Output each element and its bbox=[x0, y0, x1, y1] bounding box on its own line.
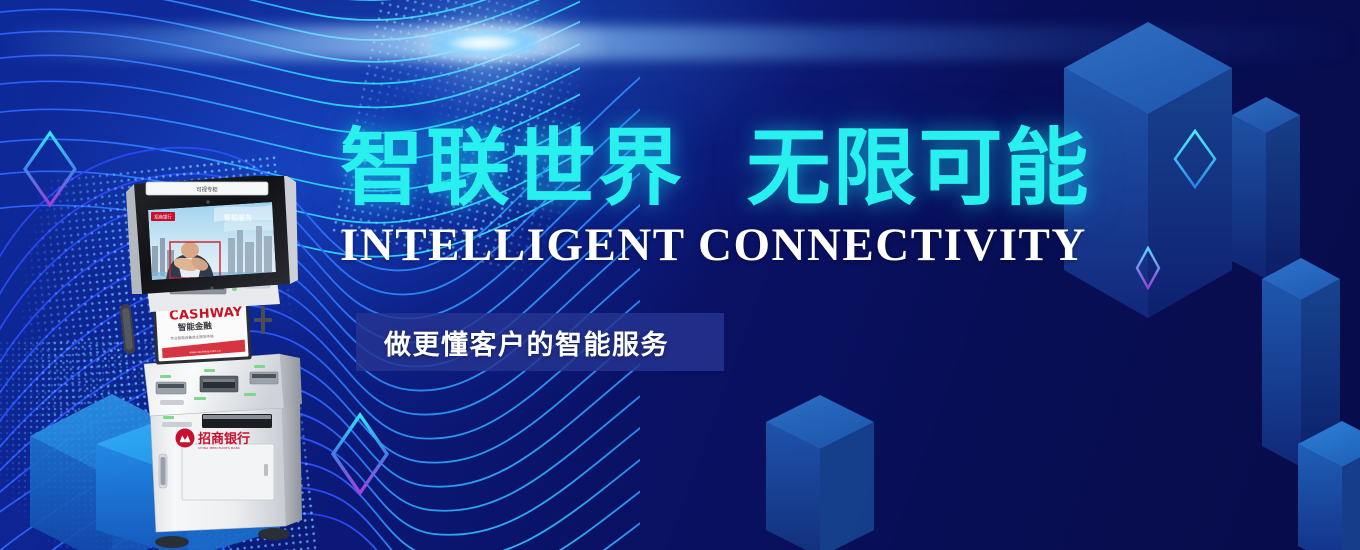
kiosk-top-label-text: 可视专柜 bbox=[196, 186, 218, 194]
kiosk-indicator-green-e bbox=[254, 365, 265, 368]
headline-text-block: 智联世界 无限可能 INTELLIGENT CONNECTIVITY 做更懂客户… bbox=[340, 126, 1220, 272]
kiosk-bank-name-cn: 招商银行 bbox=[198, 431, 250, 447]
lens-flare-glow bbox=[372, 0, 602, 132]
kiosk-card-slot bbox=[160, 400, 184, 405]
kiosk-bank-name-en: CHINA MERCHANTS BANK bbox=[198, 446, 240, 450]
lens-flare-core bbox=[430, 29, 538, 57]
kiosk-bank-logo: 招商银行 CHINA MERCHANTS BANK bbox=[176, 429, 251, 451]
kiosk-machine: 招商银行 CHINA MERCHANTS BANK CASHWAY 智能金融 专… bbox=[104, 176, 320, 550]
kiosk-indicator-green-b bbox=[163, 416, 174, 419]
kiosk-indicator-green-d bbox=[204, 369, 215, 372]
kiosk-indicator-green-c bbox=[160, 375, 171, 378]
kiosk-indicator-green-g bbox=[244, 393, 256, 396]
iso-block-far-right bbox=[1296, 418, 1360, 550]
kiosk-small-slot bbox=[162, 422, 192, 427]
tagline-chinese: 做更懂客户的智能服务 bbox=[384, 323, 669, 362]
kiosk-door-handle bbox=[264, 464, 268, 476]
kiosk-screen: 招商银行 智能服务 bbox=[148, 202, 278, 281]
diamond-mid bbox=[330, 412, 390, 496]
iso-block-bottom-center bbox=[760, 392, 880, 550]
kiosk-indicator-green-f bbox=[194, 397, 206, 400]
diamond-left-large bbox=[22, 130, 78, 208]
kiosk-brand-cn: 智能金融 bbox=[177, 320, 213, 333]
kiosk-power-dot bbox=[210, 286, 213, 289]
headline-chinese: 智联世界 无限可能 bbox=[340, 126, 1220, 212]
kiosk-foot-left bbox=[155, 536, 189, 548]
banner-root: 招商银行 CHINA MERCHANTS BANK CASHWAY 智能金融 专… bbox=[0, 0, 1360, 550]
kiosk-cabinet-door bbox=[182, 444, 274, 500]
kiosk-screen-overlay-text: 智能服务 bbox=[224, 213, 253, 222]
kiosk-screen-badge-text: 招商银行 bbox=[154, 214, 172, 221]
kiosk-cross-handle bbox=[254, 306, 272, 334]
subhead-english: INTELLIGENT CONNECTIVITY bbox=[340, 218, 1220, 272]
kiosk-camera-dot bbox=[206, 200, 210, 204]
kiosk-foot-right bbox=[258, 528, 290, 540]
